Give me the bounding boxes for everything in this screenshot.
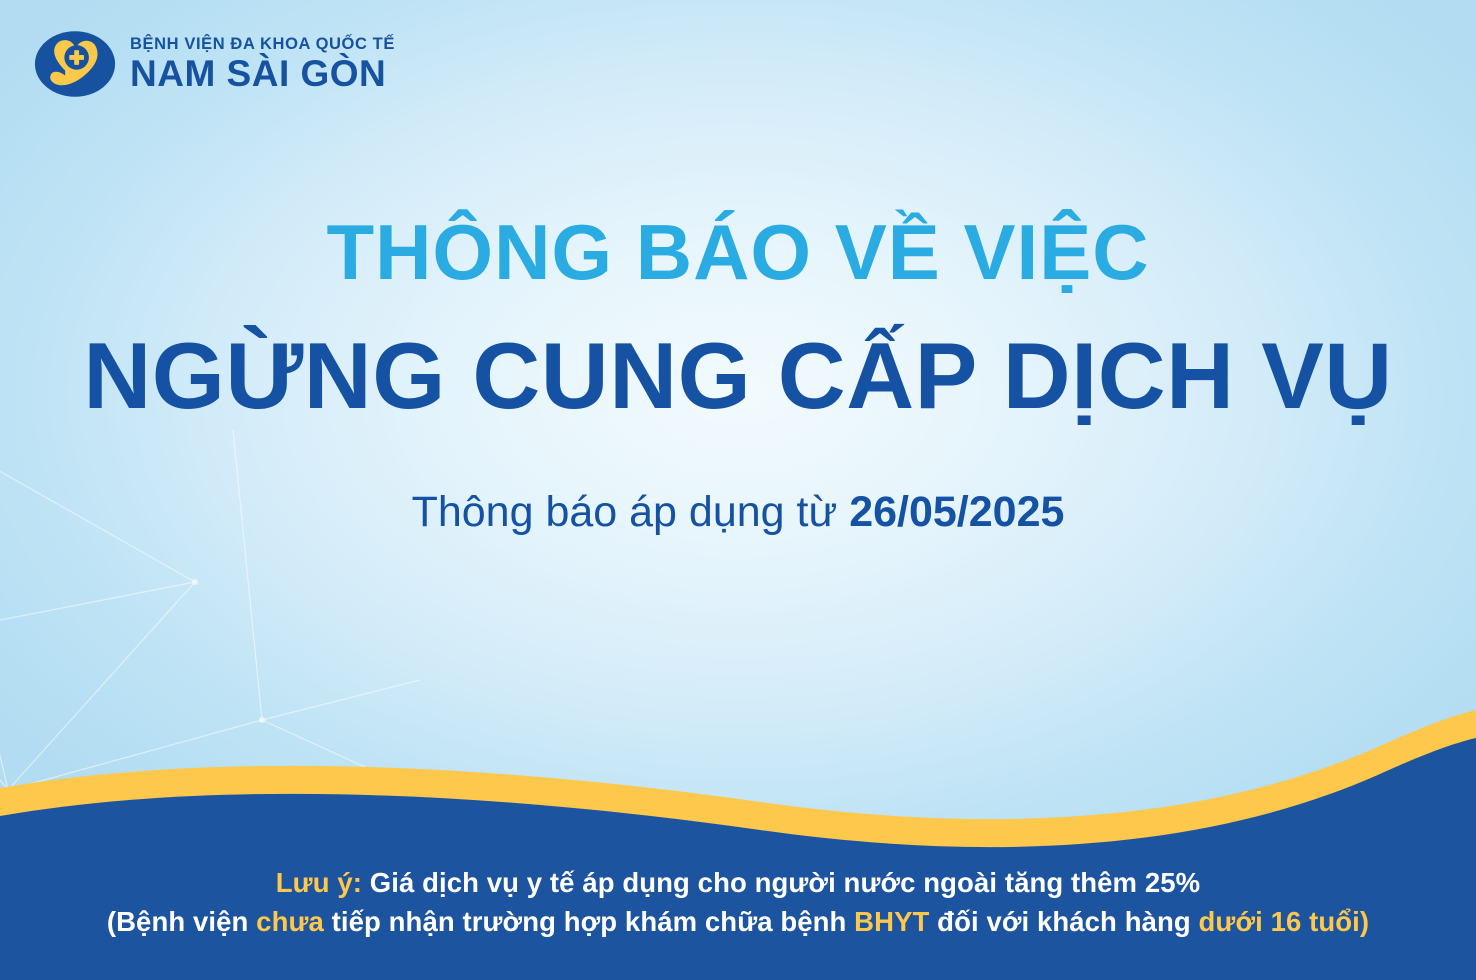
footer-line-1: Lưu ý: Giá dịch vụ y tế áp dụng cho ngườ… (0, 863, 1476, 903)
effective-date-prefix: Thông báo áp dụng từ (412, 488, 850, 536)
footer-line-2-part1: (Bệnh viện (107, 906, 256, 937)
footer-note: Lưu ý: Giá dịch vụ y tế áp dụng cho ngườ… (0, 863, 1476, 942)
logo-wordmark: BỆNH VIỆN ĐA KHOA QUỐC TẾ NAM SÀI GÒN (130, 35, 395, 94)
footer-line-1-text: Giá dịch vụ y tế áp dụng cho người nước … (362, 867, 1200, 898)
footer-highlight-age: dưới 16 tuổi) (1199, 906, 1370, 937)
logo-line-2: NAM SÀI GÒN (130, 55, 395, 94)
footer-highlight-bhyt: BHYT (854, 906, 929, 937)
footer-line-2: (Bệnh viện chưa tiếp nhận trường hợp khá… (0, 902, 1476, 942)
notice-poster: BỆNH VIỆN ĐA KHOA QUỐC TẾ NAM SÀI GÒN TH… (0, 0, 1476, 980)
footer-line-2-part2: tiếp nhận trường hợp khám chữa bệnh (324, 906, 854, 937)
page-title: NGỪNG CUNG CẤP DỊCH VỤ (0, 327, 1476, 425)
headline-block: THÔNG BÁO VỀ VIỆC NGỪNG CUNG CẤP DỊCH VỤ… (0, 212, 1476, 538)
effective-date-value: 26/05/2025 (849, 488, 1064, 536)
effective-date-line: Thông báo áp dụng từ 26/05/2025 (0, 487, 1476, 539)
footer-line-2-part3: đối với khách hàng (929, 906, 1198, 937)
heart-hand-cross-logo-icon (34, 28, 116, 100)
footer-highlight-chua: chưa (256, 906, 324, 937)
footer-note-label: Lưu ý: (276, 867, 362, 898)
eyebrow-title: THÔNG BÁO VỀ VIỆC (0, 212, 1476, 293)
logo-line-1: BỆNH VIỆN ĐA KHOA QUỐC TẾ (130, 35, 395, 53)
hospital-logo: BỆNH VIỆN ĐA KHOA QUỐC TẾ NAM SÀI GÒN (34, 28, 395, 100)
